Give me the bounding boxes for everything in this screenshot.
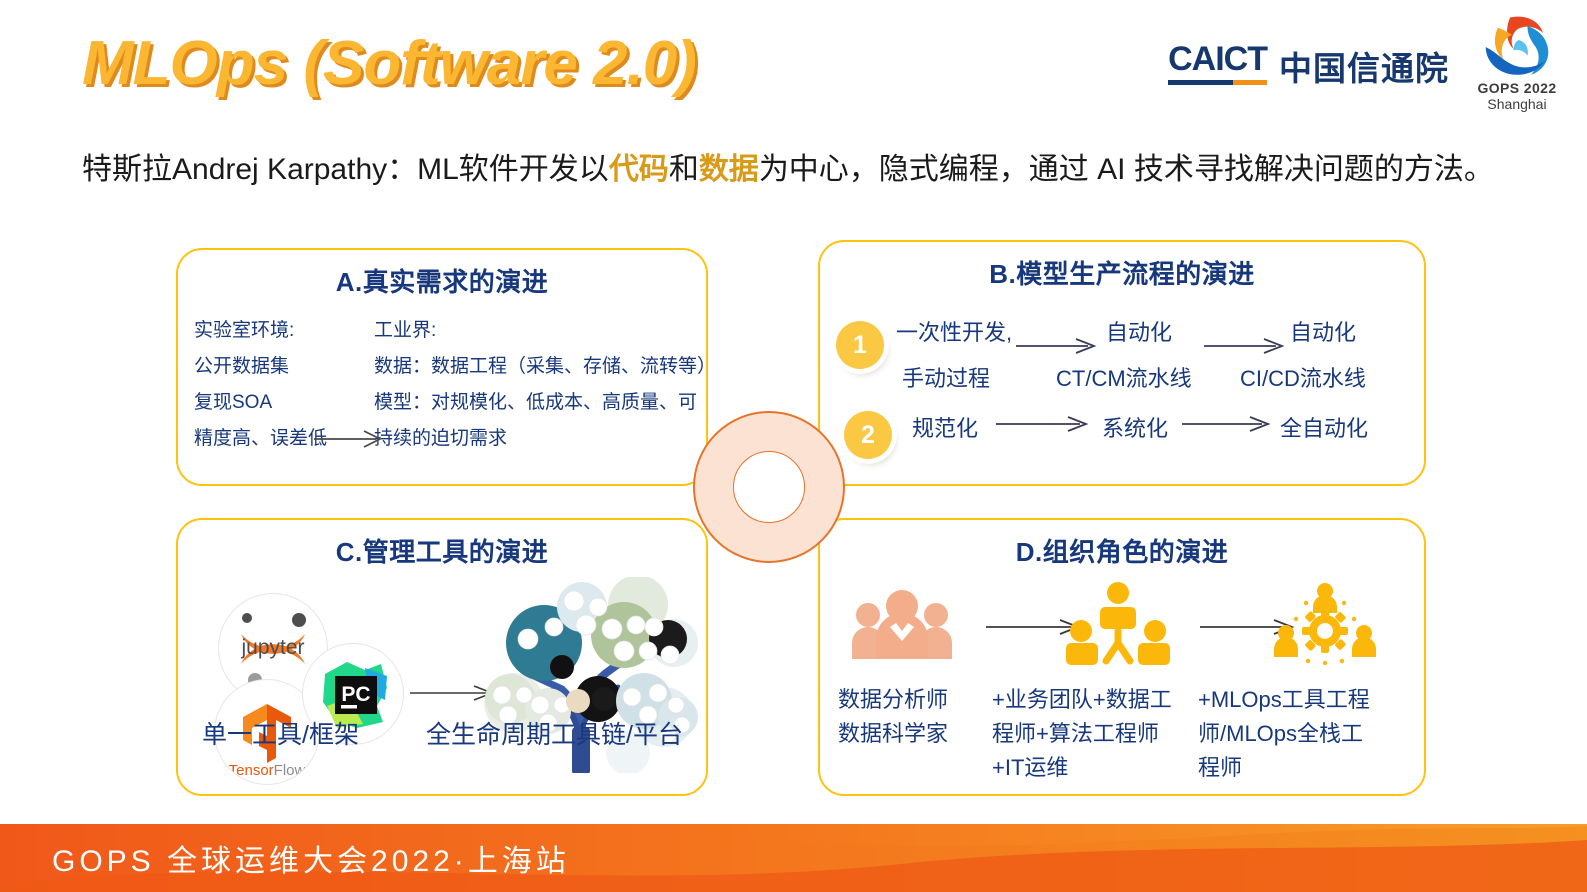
- panel-a-left-line-1: 公开数据集: [194, 349, 362, 385]
- panel-d-org-roles: D.组织角色的演进: [818, 518, 1426, 796]
- panel-b-r2-stage2: 系统化: [1102, 411, 1168, 443]
- caict-cn-text: 中国信通院: [1279, 52, 1449, 85]
- panel-a-right-column: 工业界: 数据：数据工程（采集、存储、流转等） 模型：对规模化、低成本、高质量、…: [374, 313, 694, 457]
- panel-a-right-line-1: 数据：数据工程（采集、存储、流转等）: [374, 349, 694, 385]
- caict-underline: [1168, 80, 1267, 85]
- slide-subtitle: 特斯拉Andrej Karpathy：ML软件开发以代码和数据为中心，隐式编程，…: [82, 150, 1502, 190]
- panel-d-column-2: +MLOps工具工程 师/MLOps全栈工 程师: [1198, 683, 1408, 785]
- panel-a-transition-arrow-icon: [314, 429, 386, 449]
- panel-d-column-1: +业务团队+数据工 程师+算法工程师 +IT运维: [992, 683, 1184, 785]
- gops-logo: GOPS 2022 Shanghai: [1465, 14, 1569, 113]
- caict-en-text: CAICT: [1168, 42, 1267, 76]
- panel-c-tooling: C.管理工具的演进 jupyter Tensor: [176, 518, 708, 796]
- panel-a-right-line-0: 工业界:: [374, 313, 694, 349]
- panel-b-r2-stage1: 规范化: [912, 411, 978, 443]
- panel-b-body: 1 2 一次性开发, 手动过程 自动化 CT/CM流水线 自动化 CI/CD流水…: [820, 299, 1424, 469]
- panel-a-left-line-2: 复现SOA: [194, 385, 362, 421]
- team-structure-icon: [1066, 581, 1170, 667]
- footer-bar: GOPS 全球运维大会2022·上海站: [0, 824, 1587, 892]
- panel-d-col2-line-1: 师/MLOps全栈工: [1198, 717, 1408, 751]
- panel-b-step-number-2: 2: [844, 411, 892, 459]
- caict-logo: CAICT 中国信通院: [1168, 42, 1449, 85]
- page-title: MLOps (Software 2.0): [82, 28, 696, 99]
- svg-text:PC: PC: [341, 683, 370, 706]
- panel-d-column-0: 数据分析师 数据科学家: [838, 683, 988, 751]
- slide-root: MLOps (Software 2.0) CAICT 中国信通院 GOPS 20…: [0, 0, 1587, 892]
- panel-d-col2-line-2: 程师: [1198, 751, 1408, 785]
- panel-a-real-requirements: A.真实需求的演进 实验室环境: 公开数据集 复现SOA 精度高、误差低 工业界…: [176, 248, 708, 486]
- subtitle-highlight-code: 代码: [609, 153, 669, 186]
- panel-a-left-line-0: 实验室环境:: [194, 313, 362, 349]
- panel-b-r2-arrow-2-icon: [1182, 415, 1274, 433]
- panel-d-col0-line-0: 数据分析师: [838, 683, 988, 717]
- panel-b-r1-stage1-bottom: 手动过程: [902, 361, 990, 393]
- panel-d-title: D.组织角色的演进: [820, 532, 1424, 569]
- panel-b-r1-arrow-2-icon: [1204, 337, 1288, 355]
- panel-b-r1-stage2-top: 自动化: [1106, 315, 1172, 347]
- center-ring-decoration: [693, 411, 845, 563]
- panel-c-title: C.管理工具的演进: [178, 532, 706, 569]
- svg-text:jupyter: jupyter: [240, 636, 304, 659]
- caict-wordmark: CAICT: [1168, 42, 1267, 85]
- panel-d-icon-row: [820, 579, 1424, 677]
- people-group-icon: [848, 587, 956, 663]
- gops-swirl-icon: [1473, 14, 1561, 80]
- subtitle-part-3: 为中心，隐式编程，通过 AI 技术寻找解决问题的方法。: [759, 153, 1494, 186]
- panel-b-step-number-1: 1: [836, 321, 884, 369]
- gops-city-label: Shanghai: [1487, 96, 1546, 113]
- subtitle-highlight-data: 数据: [699, 153, 759, 186]
- panel-a-right-line-3: 持续的迫切需求: [374, 421, 694, 457]
- panel-d-col1-line-2: +IT运维: [992, 751, 1184, 785]
- panel-b-r1-stage3-top: 自动化: [1290, 315, 1356, 347]
- footer-text: GOPS 全球运维大会2022·上海站: [52, 836, 570, 880]
- panel-b-r2-arrow-1-icon: [996, 415, 1092, 433]
- panel-b-r1-arrow-1-icon: [1016, 337, 1100, 355]
- panel-b-r1-stage2-bottom: CT/CM流水线: [1056, 361, 1192, 393]
- panel-c-caption-right: 全生命周期工具链/平台: [426, 715, 683, 751]
- panel-a-title: A.真实需求的演进: [178, 262, 706, 299]
- subtitle-part-2: 和: [669, 153, 699, 186]
- panel-b-r1-stage3-bottom: CI/CD流水线: [1240, 361, 1366, 393]
- panel-b-title: B.模型生产流程的演进: [820, 254, 1424, 291]
- gear-team-icon: [1272, 581, 1378, 667]
- panel-a-right-line-2: 模型：对规模化、低成本、高质量、可: [374, 385, 694, 421]
- panel-d-col1-line-0: +业务团队+数据工: [992, 683, 1184, 717]
- panel-d-col0-line-1: 数据科学家: [838, 717, 988, 751]
- panel-c-stage: jupyter TensorFlow: [178, 571, 706, 761]
- panel-b-model-pipeline: B.模型生产流程的演进 1 2 一次性开发, 手动过程 自动化 CT/CM流水线…: [818, 240, 1426, 486]
- panel-b-r1-stage1-top: 一次性开发,: [896, 315, 1012, 347]
- panel-d-col1-line-1: 程师+算法工程师: [992, 717, 1184, 751]
- panel-b-r2-stage3: 全自动化: [1280, 411, 1368, 443]
- gops-name-label: GOPS 2022: [1477, 80, 1556, 96]
- panel-d-col2-line-0: +MLOps工具工程: [1198, 683, 1408, 717]
- brand-bar: CAICT 中国信通院 GOPS 2022 Shanghai: [1168, 14, 1569, 113]
- svg-text:TensorFlow: TensorFlow: [229, 762, 306, 779]
- subtitle-part-1: 特斯拉Andrej Karpathy：ML软件开发以: [82, 153, 609, 186]
- panel-c-caption-left: 单一工具/框架: [202, 715, 359, 751]
